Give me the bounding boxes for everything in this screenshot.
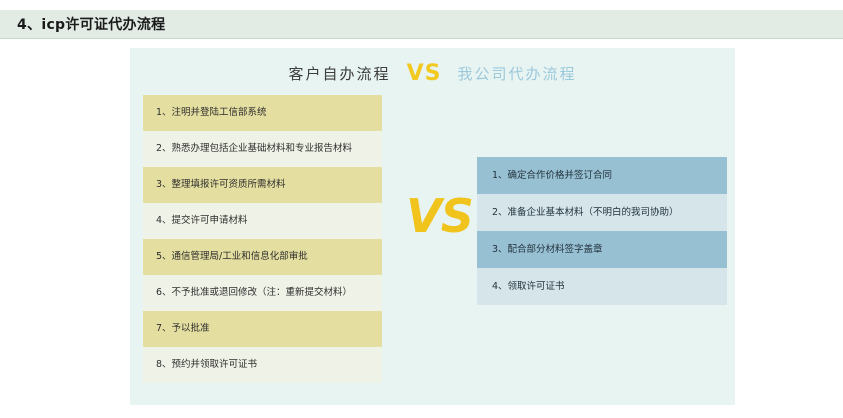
list-item: 5、通信管理局/工业和信息化部审批: [143, 239, 382, 275]
list-item: 2、准备企业基本材料（不明白的我司协助）: [477, 194, 727, 231]
list-item: 1、确定合作价格并签订合同: [477, 157, 727, 194]
comparison-panel: 客户自办流程 VS 我公司代办流程 1、注明并登陆工信部系统 2、熟悉办理包括企…: [130, 48, 735, 405]
list-item: 1、注明并登陆工信部系统: [143, 95, 382, 131]
list-item: 4、提交许可申请材料: [143, 203, 382, 239]
section-header-bar: 4、icp许可证代办流程: [0, 10, 843, 39]
list-item: 6、不予批准或退回修改（注：重新提交材料）: [143, 275, 382, 311]
page-title: 4、icp许可证代办流程: [17, 14, 165, 34]
heading-customer-label: 客户自办流程: [289, 63, 391, 84]
customer-flow-list: 1、注明并登陆工信部系统 2、熟悉办理包括企业基础材料和专业报告材料 3、整理填…: [143, 95, 382, 383]
list-item: 7、予以批准: [143, 311, 382, 347]
heading-company-label: 我公司代办流程: [457, 63, 576, 84]
list-item: 3、整理填报许可资质所需材料: [143, 167, 382, 203]
heading-vs-label: VS: [407, 61, 442, 86]
list-item: 3、配合部分材料签字盖章: [477, 231, 727, 268]
comparison-heading: 客户自办流程 VS 我公司代办流程: [130, 57, 735, 89]
list-item: 2、熟悉办理包括企业基础材料和专业报告材料: [143, 131, 382, 167]
company-flow-list: 1、确定合作价格并签订合同 2、准备企业基本材料（不明白的我司协助） 3、配合部…: [477, 157, 727, 305]
list-item: 4、领取许可证书: [477, 268, 727, 305]
vs-divider-label: VS: [392, 189, 487, 243]
list-item: 8、预约并领取许可证书: [143, 347, 382, 383]
